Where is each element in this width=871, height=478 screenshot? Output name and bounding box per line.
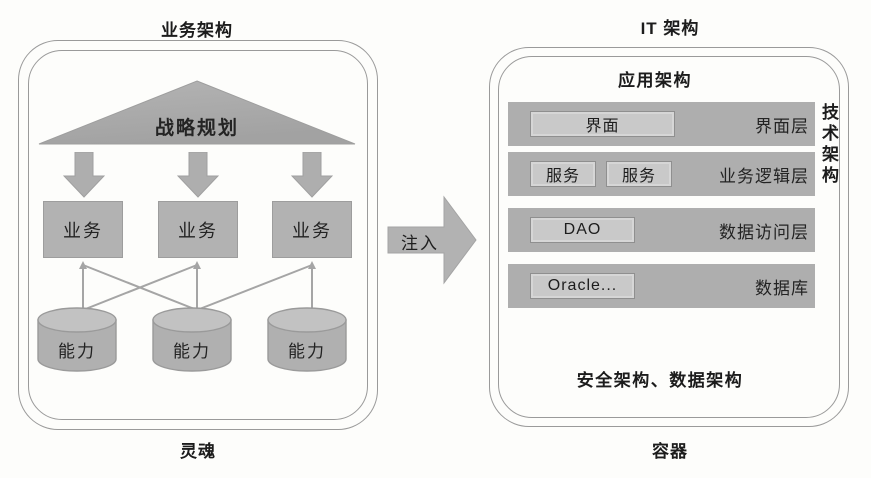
business-box-label: 业务 [178,217,218,243]
layer-name-label: 数据库 [755,274,809,299]
layer-component-button[interactable]: DAO [530,217,635,243]
layer-component-label: 服务 [546,162,580,186]
technical-architecture-label: 技术架构 [820,103,837,187]
left-panel-caption: 灵魂 [118,437,278,462]
diagram-canvas: 业务架构 战略规划 业务 业务 业务 [0,0,871,478]
business-box-3[interactable]: 业务 [272,201,352,258]
capability-cylinder-1[interactable]: 能力 [36,307,118,372]
capability-cylinder-2[interactable]: 能力 [151,307,233,372]
layer-component-button[interactable]: 服务 [606,161,672,187]
down-arrow-1 [63,152,105,198]
inject-label: 注入 [392,229,448,254]
layer-component-label: Oracle... [548,277,617,295]
layer-component-label: 服务 [622,162,656,186]
layer-name-label: 界面层 [755,112,809,137]
layer-component-button[interactable]: 服务 [530,161,596,187]
business-box-label: 业务 [63,217,103,243]
cylinder-shape [266,307,348,372]
capability-business-connectors [0,255,380,310]
right-panel-title: IT 架构 [570,14,770,39]
cylinder-shape [151,307,233,372]
layer-row-business-logic[interactable]: 服务 服务 业务逻辑层 [508,152,815,196]
security-data-architecture-note: 安全架构、数据架构 [540,366,780,391]
strategy-triangle: 战略规划 [36,78,358,148]
cylinder-shape [36,307,118,372]
layer-component-button[interactable]: Oracle... [530,273,635,299]
right-panel-caption: 容器 [590,437,750,462]
layer-row-database[interactable]: Oracle... 数据库 [508,264,815,308]
strategy-label: 战略规划 [36,113,358,140]
business-box-2[interactable]: 业务 [158,201,238,258]
layer-row-data-access[interactable]: DAO 数据访问层 [508,208,815,252]
business-box-label: 业务 [292,217,332,243]
down-arrow-2 [177,152,219,198]
layer-name-label: 业务逻辑层 [719,162,809,187]
application-architecture-title: 应用架构 [570,66,740,91]
layer-component-label: DAO [564,221,602,239]
business-box-1[interactable]: 业务 [43,201,123,258]
layer-component-label: 界面 [585,112,619,136]
layer-name-label: 数据访问层 [719,218,809,243]
down-arrow-3 [291,152,333,198]
layer-row-interface[interactable]: 界面 界面层 [508,102,815,146]
layer-component-button[interactable]: 界面 [530,111,675,137]
left-panel-title: 业务架构 [77,16,317,41]
capability-cylinder-3[interactable]: 能力 [266,307,348,372]
